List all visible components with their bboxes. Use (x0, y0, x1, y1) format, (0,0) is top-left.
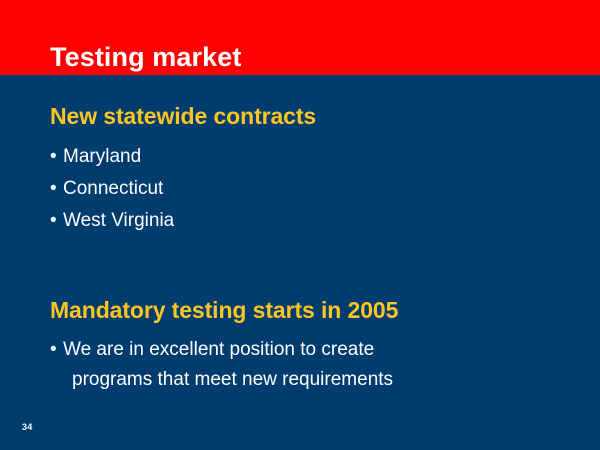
bullet-dot-icon: • (50, 141, 57, 173)
list-item-label: Connecticut (63, 178, 163, 199)
list-item-label-line-1: We are in excellent position to create (63, 339, 374, 360)
slide-body: New statewide contracts • Maryland • Con… (0, 75, 600, 450)
list-item: • Maryland (50, 141, 174, 173)
presentation-slide: Testing market New statewide contracts •… (0, 0, 600, 450)
section-heading-mandatory: Mandatory testing starts in 2005 (50, 299, 398, 322)
list-item-label: West Virginia (63, 210, 174, 231)
list-item: • We are in excellent position to create… (50, 335, 533, 395)
bullet-list-position: • We are in excellent position to create… (50, 335, 533, 395)
list-item-label-line-2: programs that meet new requirements (63, 365, 533, 395)
bullet-dot-icon: • (50, 173, 57, 205)
list-item-label: Maryland (63, 146, 141, 167)
list-item: • West Virginia (50, 205, 174, 237)
list-item: • Connecticut (50, 173, 174, 205)
bullet-dot-icon: • (50, 205, 57, 237)
bullet-dot-icon: • (50, 335, 57, 365)
section-heading-contracts: New statewide contracts (50, 105, 316, 128)
page-title: Testing market (50, 44, 241, 71)
page-number: 34 (22, 423, 32, 432)
bullet-list-states: • Maryland • Connecticut • West Virginia (50, 141, 174, 237)
